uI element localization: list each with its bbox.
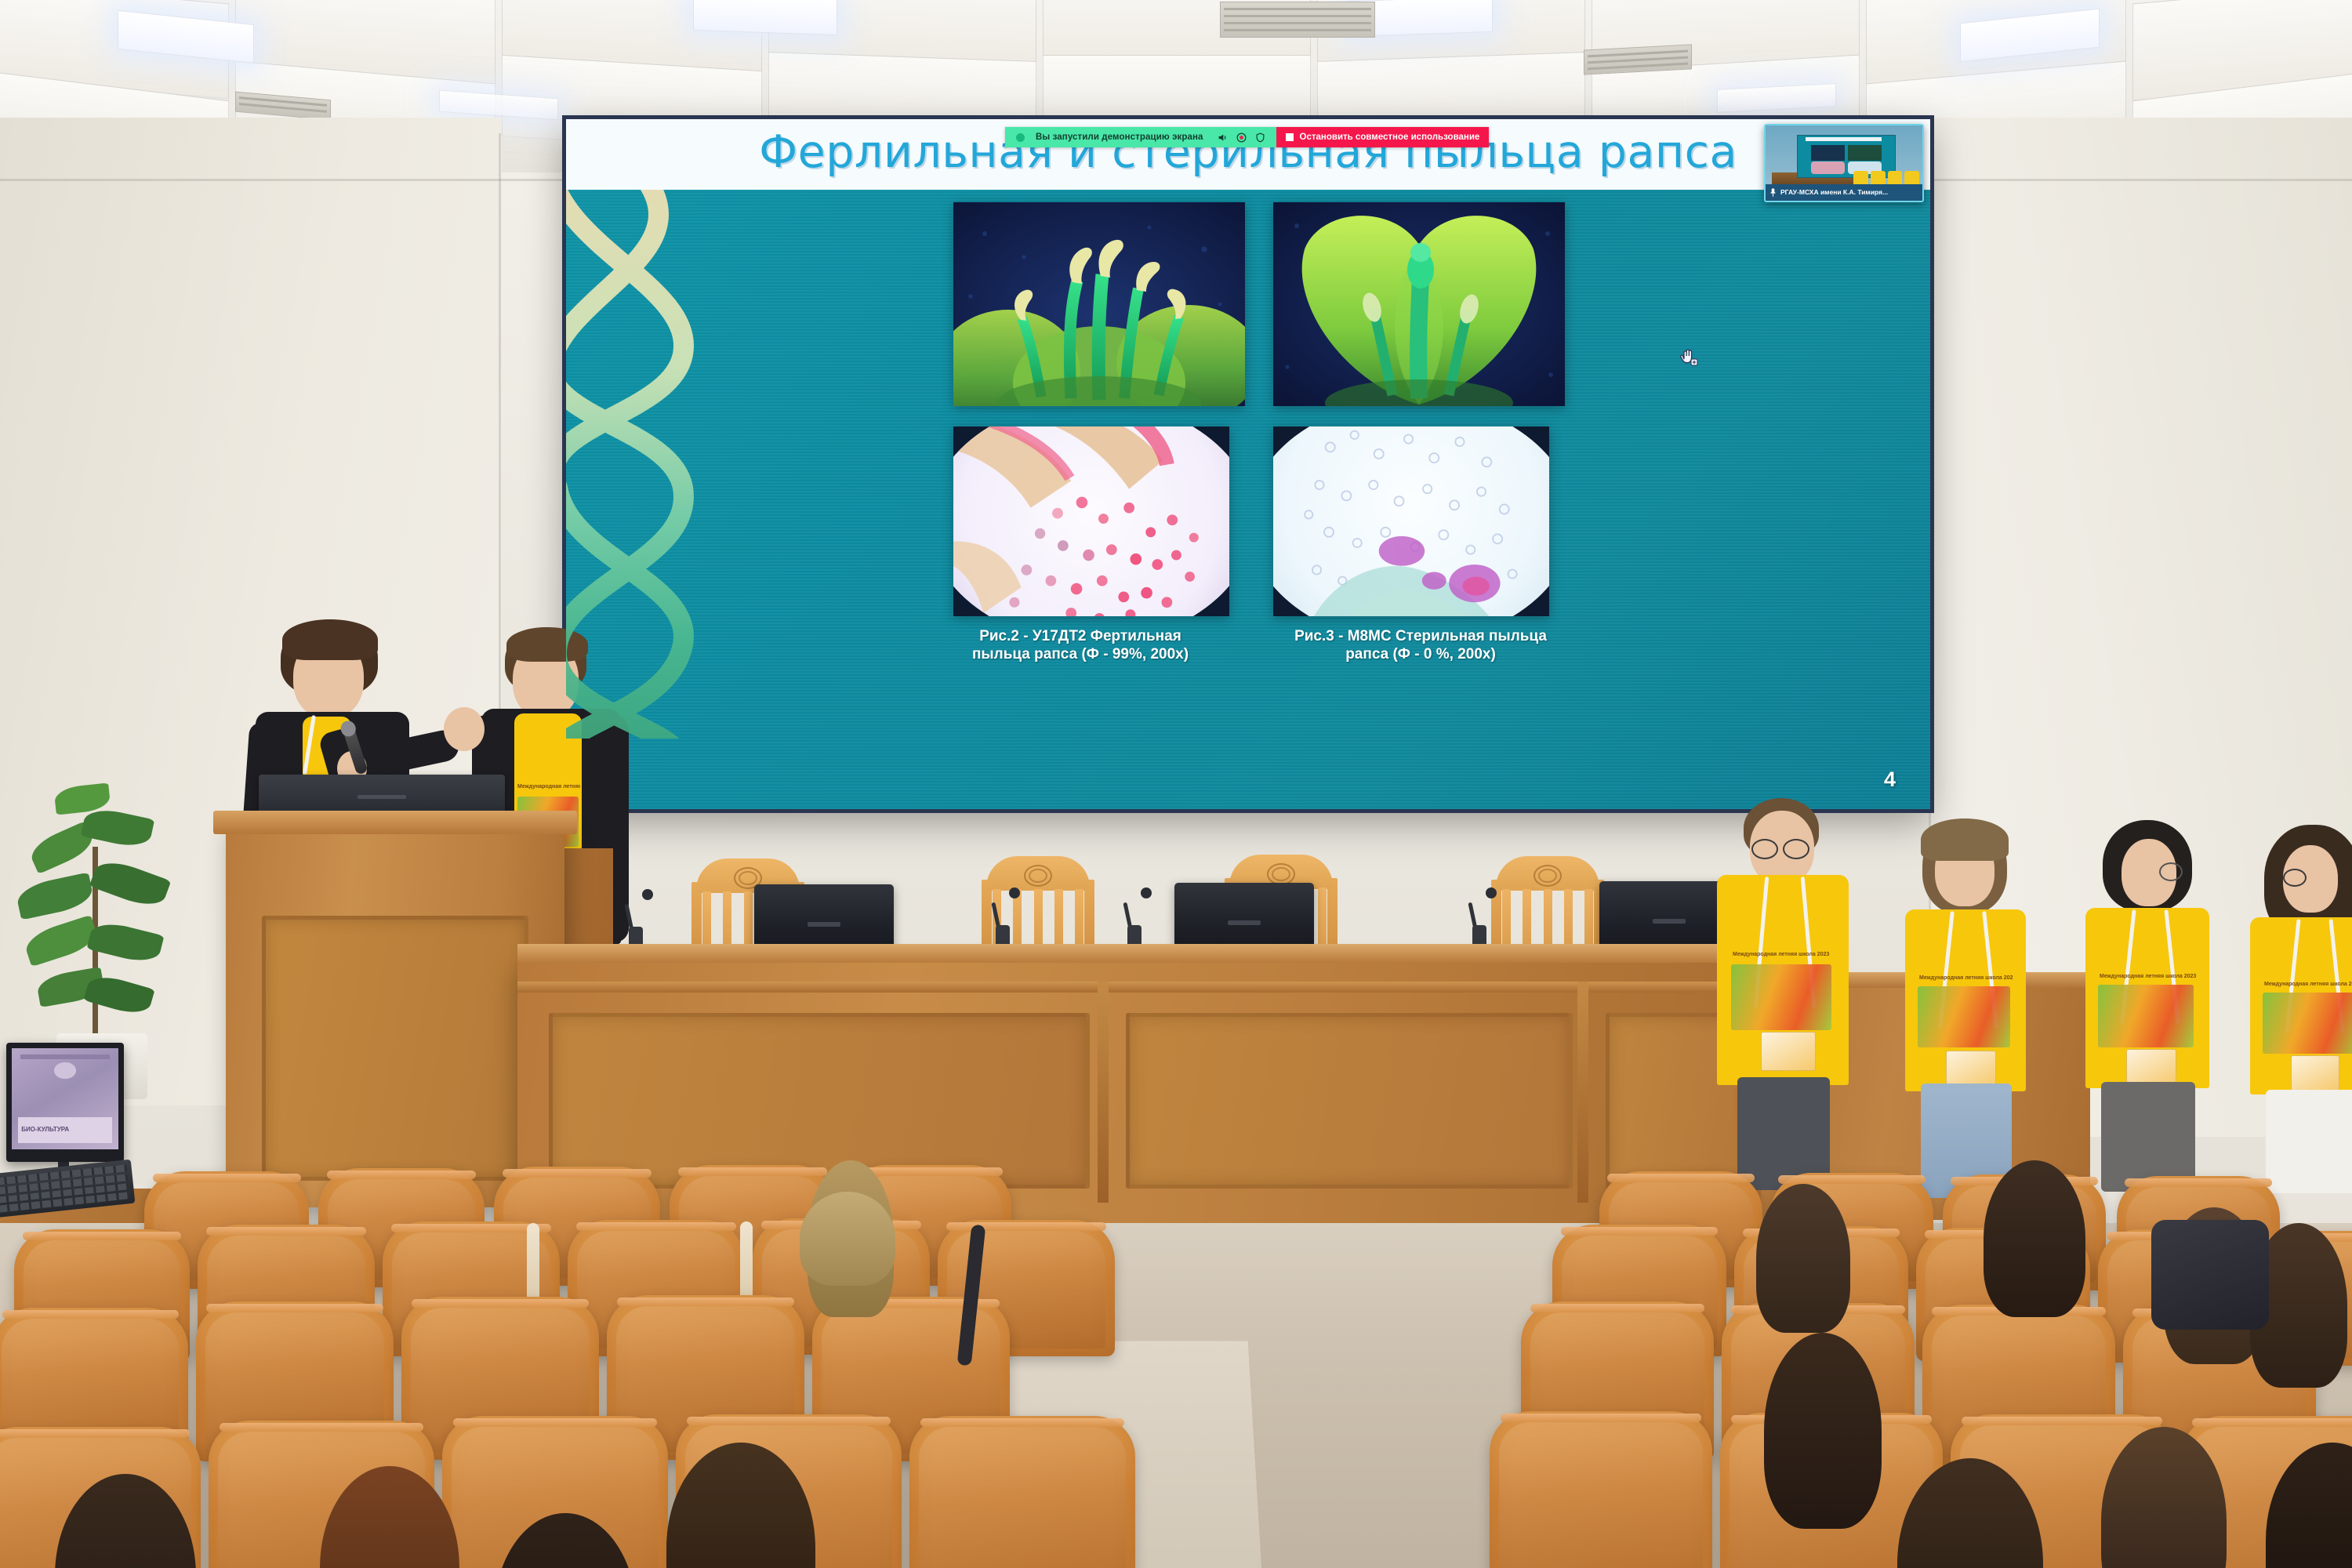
caption-left-line-2: пыльца рапса (Ф - 99%, 200х) — [905, 645, 1256, 663]
backpack — [2151, 1220, 2269, 1330]
figure-fluorescence-pistil — [1273, 202, 1565, 406]
audience-person-head — [800, 1192, 895, 1286]
video-participant-name: РГАУ-МСХА имени К.А. Тимиря... — [1780, 188, 1888, 196]
name-badge — [1946, 1051, 1996, 1087]
caption-right-line-1: Рис.3 - М8МС Стерильная пыльца — [1245, 627, 1596, 645]
slide-number: 4 — [1884, 768, 1896, 792]
caption-sterile-pollen: Рис.3 - М8МС Стерильная пыльца рапса (Ф … — [1245, 627, 1596, 663]
podium — [226, 823, 564, 1207]
dna-helix-icon — [566, 190, 781, 739]
audience-seat — [1490, 1411, 1712, 1568]
student-2: Международная летняя школа 2023 — [1894, 818, 2051, 1195]
ceiling-light — [693, 0, 837, 35]
figure-fluorescence-anthers — [953, 202, 1245, 406]
student-3: Международная летняя школа 2023 — [2078, 820, 2231, 1189]
name-badge — [2291, 1055, 2339, 1091]
caption-fertile-pollen: Рис.2 - У17ДТ2 Фертильная пыльца рапса (… — [905, 627, 1256, 663]
video-thumbnail[interactable]: РГАУ-МСХА имени К.А. Тимиря... — [1764, 124, 1924, 202]
control-monitor-poster-text: БИО-КУЛЬТУРА — [21, 1126, 69, 1133]
screen-share-bar[interactable]: Вы запустили демонстрацию экрана Останов… — [1005, 127, 1489, 147]
student-1: Международная летняя школа 2023 — [1711, 798, 1875, 1190]
pin-icon — [1769, 188, 1777, 197]
speaker-icon[interactable] — [1218, 132, 1228, 143]
caption-left-line-1: Рис.2 - У17ДТ2 Фертильная — [905, 627, 1256, 645]
pan-hand-cursor-icon — [1678, 347, 1698, 367]
stop-square-icon — [1286, 133, 1294, 141]
figure-sterile-pollen — [1273, 426, 1549, 616]
share-status-text: Вы запустили демонстрацию экрана — [1036, 132, 1203, 142]
audience-person-head — [1764, 1333, 1882, 1529]
stop-sharing-label: Остановить совместное использование — [1300, 132, 1480, 142]
projection-screen: Ферлильная и стерильная пыльца рапса Вы … — [566, 119, 1930, 809]
share-indicator-icon — [1016, 133, 1025, 142]
stop-sharing-button[interactable]: Остановить совместное использование — [1276, 127, 1490, 147]
shield-icon[interactable] — [1255, 132, 1265, 143]
record-icon[interactable] — [1236, 132, 1247, 143]
student-4: Международная летняя школа 2023 — [2244, 825, 2352, 1193]
caption-right-line-2: рапса (Ф - 0 %, 200х) — [1245, 645, 1596, 663]
name-badge — [1761, 1032, 1816, 1071]
share-status-group: Вы запустили демонстрацию экрана — [1005, 127, 1276, 147]
conference-hall-photo: Ферлильная и стерильная пыльца рапса Вы … — [0, 0, 2352, 1568]
audience-seat — [909, 1416, 1135, 1568]
audience-person-head — [1756, 1184, 1850, 1333]
figure-fertile-pollen — [953, 426, 1229, 616]
control-monitor: БИО-КУЛЬТУРА — [6, 1043, 124, 1162]
name-badge — [2126, 1049, 2176, 1085]
audience-person-head — [1984, 1160, 2085, 1317]
ceiling-vent — [1220, 2, 1375, 38]
